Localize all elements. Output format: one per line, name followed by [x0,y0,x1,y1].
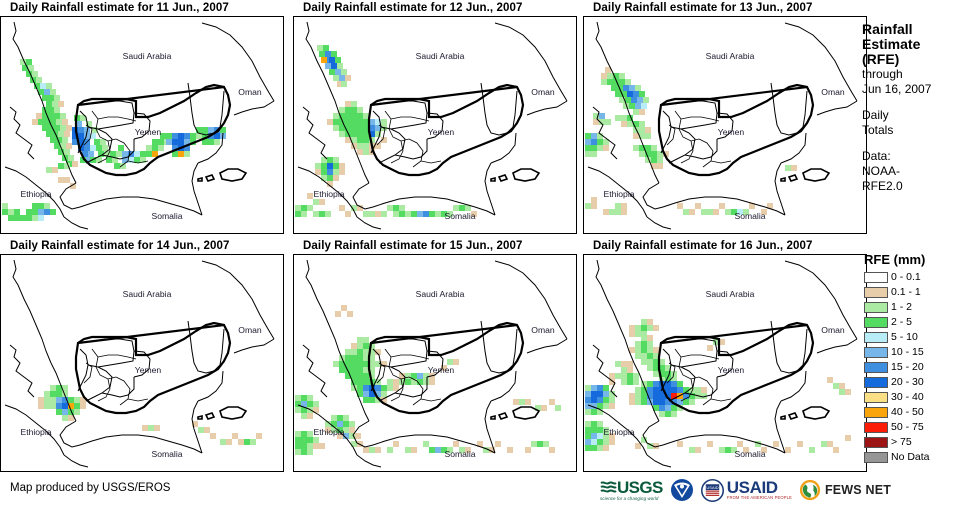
legend-swatch [864,392,888,403]
country-label-oman: Oman [531,325,555,335]
country-label-somalia: Somalia [444,449,475,459]
sidebar-data-line1: Data: [862,149,967,164]
usgs-wordmark: USGS [617,479,663,496]
sidebar-through-date: Jun 16, 2007 [862,82,967,97]
agency-logos: USGS science for a changing world USAID … [600,478,891,502]
sidebar-title-line3: (RFE) [862,52,967,67]
legend-label: 50 - 75 [891,422,924,433]
legend-item: 0.1 - 1 [864,285,930,300]
country-label-ethiopia: Ethiopia [20,427,51,437]
map-panel-title: Daily Rainfall estimate for 11 Jun., 200… [0,0,282,16]
legend-label: 1 - 2 [891,302,912,313]
map-panel-title: Daily Rainfall estimate for 13 Jun., 200… [583,0,865,16]
country-label-saudi-arabia: Saudi Arabia [416,51,465,61]
legend-rows: 0 - 0.10.1 - 11 - 22 - 55 - 1010 - 1515 … [864,270,930,465]
legend-item: 15 - 20 [864,360,930,375]
rainfall-raster: Saudi ArabiaOmanYemenEthiopiaSomalia [1,17,283,233]
map-panel-title: Daily Rainfall estimate for 16 Jun., 200… [583,238,865,254]
usaid-wordmark: USAID [727,479,792,496]
legend-swatch [864,452,888,463]
legend-item: 0 - 0.1 [864,270,930,285]
sidebar-totals-line2: Totals [862,123,967,138]
legend-swatch [864,377,888,388]
legend-swatch [864,272,888,283]
legend-swatch [864,332,888,343]
sidebar: Rainfall Estimate (RFE) through Jun 16, … [862,0,967,511]
map-canvas[interactable]: Saudi ArabiaOmanYemenEthiopiaSomalia [293,16,577,234]
legend-swatch [864,422,888,433]
map-panel-grid: Daily Rainfall estimate for 11 Jun., 200… [0,0,860,475]
fews-net-globe-icon[interactable] [799,479,821,501]
usgs-logo[interactable]: USGS science for a changing world [600,479,663,501]
sidebar-through-label: through [862,67,967,82]
island-shapes [198,407,246,419]
sidebar-data-line3: RFE2.0 [862,179,967,194]
legend-label: 30 - 40 [891,392,924,403]
legend-swatch [864,302,888,313]
legend-label: 2 - 5 [891,317,912,328]
legend-item: 2 - 5 [864,315,930,330]
map-panel-2[interactable]: Daily Rainfall estimate for 12 Jun., 200… [293,0,575,234]
country-label-ethiopia: Ethiopia [313,427,344,437]
country-label-ethiopia: Ethiopia [313,189,344,199]
country-label-yemen: Yemen [135,365,162,375]
country-label-yemen: Yemen [428,365,455,375]
legend: RFE (mm) 0 - 0.10.1 - 11 - 22 - 55 - 101… [864,252,930,465]
rainfall-raster: Saudi ArabiaOmanYemenEthiopiaSomalia [294,255,576,471]
sidebar-title-line1: Rainfall [862,22,967,37]
map-panel-6[interactable]: Daily Rainfall estimate for 16 Jun., 200… [583,238,865,472]
legend-swatch [864,287,888,298]
sidebar-title-line2: Estimate [862,37,967,52]
legend-swatch [864,362,888,373]
country-label-saudi-arabia: Saudi Arabia [123,289,172,299]
country-label-ethiopia: Ethiopia [603,189,634,199]
country-label-saudi-arabia: Saudi Arabia [706,51,755,61]
country-label-yemen: Yemen [428,127,455,137]
country-label-saudi-arabia: Saudi Arabia [416,289,465,299]
map-panel-4[interactable]: Daily Rainfall estimate for 14 Jun., 200… [0,238,282,472]
rainfall-raster: Saudi ArabiaOmanYemenEthiopiaSomalia [1,255,283,471]
country-label-ethiopia: Ethiopia [20,189,51,199]
map-canvas[interactable]: Saudi ArabiaOmanYemenEthiopiaSomalia [0,254,284,472]
legend-item: 20 - 30 [864,375,930,390]
legend-label: 5 - 10 [891,332,918,343]
country-label-somalia: Somalia [734,449,765,459]
island-shapes [491,169,539,181]
legend-label: 0.1 - 1 [891,287,921,298]
legend-item: 10 - 15 [864,345,930,360]
legend-label: No Data [891,452,930,463]
map-canvas[interactable]: Saudi ArabiaOmanYemenEthiopiaSomalia [0,16,284,234]
legend-item: 50 - 75 [864,420,930,435]
legend-item: > 75 [864,435,930,450]
legend-label: 40 - 50 [891,407,924,418]
usgs-tagline: science for a changing world [600,497,658,501]
island-shapes [781,407,829,419]
sidebar-totals-line1: Daily [862,108,967,123]
country-label-yemen: Yemen [135,127,162,137]
legend-swatch [864,317,888,328]
country-label-somalia: Somalia [444,211,475,221]
map-canvas[interactable]: Saudi ArabiaOmanYemenEthiopiaSomalia [583,16,867,234]
noaa-logo-icon[interactable] [670,478,694,502]
rfe-map-page: Daily Rainfall estimate for 11 Jun., 200… [0,0,967,511]
legend-swatch [864,347,888,358]
legend-label: 20 - 30 [891,377,924,388]
country-label-oman: Oman [531,87,555,97]
map-panel-title: Daily Rainfall estimate for 15 Jun., 200… [293,238,575,254]
legend-label: 0 - 0.1 [891,272,921,283]
map-panel-1[interactable]: Daily Rainfall estimate for 11 Jun., 200… [0,0,282,234]
country-label-somalia: Somalia [734,211,765,221]
country-label-yemen: Yemen [718,365,745,375]
legend-label: 10 - 15 [891,347,924,358]
rainfall-raster: Saudi ArabiaOmanYemenEthiopiaSomalia [584,255,866,471]
country-label-oman: Oman [238,325,262,335]
usgs-wave-icon [600,480,617,495]
country-label-oman: Oman [238,87,262,97]
country-label-saudi-arabia: Saudi Arabia [123,51,172,61]
country-label-somalia: Somalia [151,211,182,221]
fews-net-wordmark: FEWS NET [825,483,891,497]
island-shapes [198,169,246,181]
rainfall-raster: Saudi ArabiaOmanYemenEthiopiaSomalia [584,17,866,233]
legend-item: 1 - 2 [864,300,930,315]
rainfall-raster: Saudi ArabiaOmanYemenEthiopiaSomalia [294,17,576,233]
legend-item: No Data [864,450,930,465]
map-panel-5[interactable]: Daily Rainfall estimate for 15 Jun., 200… [293,238,575,472]
map-panel-title: Daily Rainfall estimate for 14 Jun., 200… [0,238,282,254]
country-label-oman: Oman [821,87,845,97]
legend-swatch [864,407,888,418]
legend-item: 40 - 50 [864,405,930,420]
country-label-yemen: Yemen [718,127,745,137]
country-label-oman: Oman [821,325,845,335]
map-canvas[interactable]: Saudi ArabiaOmanYemenEthiopiaSomalia [583,254,867,472]
map-panel-3[interactable]: Daily Rainfall estimate for 13 Jun., 200… [583,0,865,234]
island-shapes [491,407,539,419]
usaid-seal-icon[interactable]: USAID [701,479,724,502]
legend-label: > 75 [891,437,912,448]
legend-item: 30 - 40 [864,390,930,405]
legend-item: 5 - 10 [864,330,930,345]
country-label-somalia: Somalia [151,449,182,459]
svg-text:USAID: USAID [706,484,718,489]
usaid-tagline: FROM THE AMERICAN PEOPLE [727,496,792,500]
sidebar-data-line2: NOAA- [862,164,967,179]
map-canvas[interactable]: Saudi ArabiaOmanYemenEthiopiaSomalia [293,254,577,472]
map-panel-title: Daily Rainfall estimate for 12 Jun., 200… [293,0,575,16]
map-credit: Map produced by USGS/EROS [10,482,170,494]
country-label-ethiopia: Ethiopia [603,427,634,437]
country-label-saudi-arabia: Saudi Arabia [706,289,755,299]
legend-swatch [864,437,888,448]
legend-title: RFE (mm) [864,252,930,267]
legend-label: 15 - 20 [891,362,924,373]
